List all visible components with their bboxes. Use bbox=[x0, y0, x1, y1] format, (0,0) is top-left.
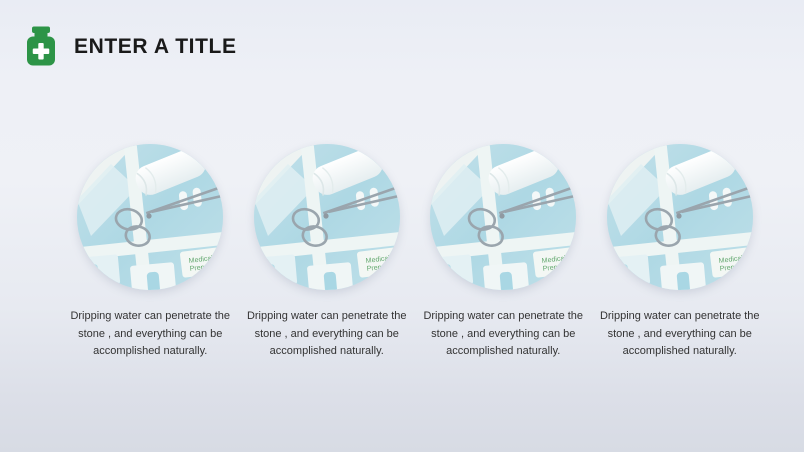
photo-caption-card: Medical Prep Dripping water can penetrat… bbox=[592, 144, 769, 361]
card-caption: Dripping water can penetrate the stone ,… bbox=[418, 308, 588, 361]
card-caption: Dripping water can penetrate the stone ,… bbox=[595, 308, 765, 361]
svg-text:Prep: Prep bbox=[719, 264, 735, 273]
cards-row: Medical Prep Dripping water can penetrat… bbox=[62, 144, 768, 361]
card-caption: Dripping water can penetrate the stone ,… bbox=[65, 308, 235, 361]
photo-caption-card: Medical Prep Dripping water can penetrat… bbox=[415, 144, 592, 361]
photo-caption-card: Medical Prep Dripping water can penetrat… bbox=[62, 144, 239, 361]
photo-caption-card: Medical Prep Dripping water can penetrat… bbox=[239, 144, 416, 361]
card-caption: Dripping water can penetrate the stone ,… bbox=[242, 308, 412, 361]
slide-header: ENTER A TITLE bbox=[24, 26, 237, 66]
surgical-instruments-photo: Medical Prep bbox=[430, 144, 576, 290]
svg-text:Prep: Prep bbox=[543, 264, 559, 273]
surgical-instruments-photo: Medical Prep bbox=[254, 144, 400, 290]
surgical-instruments-photo: Medical Prep bbox=[77, 144, 223, 290]
page-title: ENTER A TITLE bbox=[74, 36, 237, 57]
svg-text:Prep: Prep bbox=[190, 264, 206, 273]
surgical-instruments-photo: Medical Prep bbox=[607, 144, 753, 290]
svg-text:Prep: Prep bbox=[366, 264, 382, 273]
presentation-slide: ENTER A TITLE bbox=[0, 0, 804, 452]
medicine-bottle-icon bbox=[24, 26, 58, 66]
